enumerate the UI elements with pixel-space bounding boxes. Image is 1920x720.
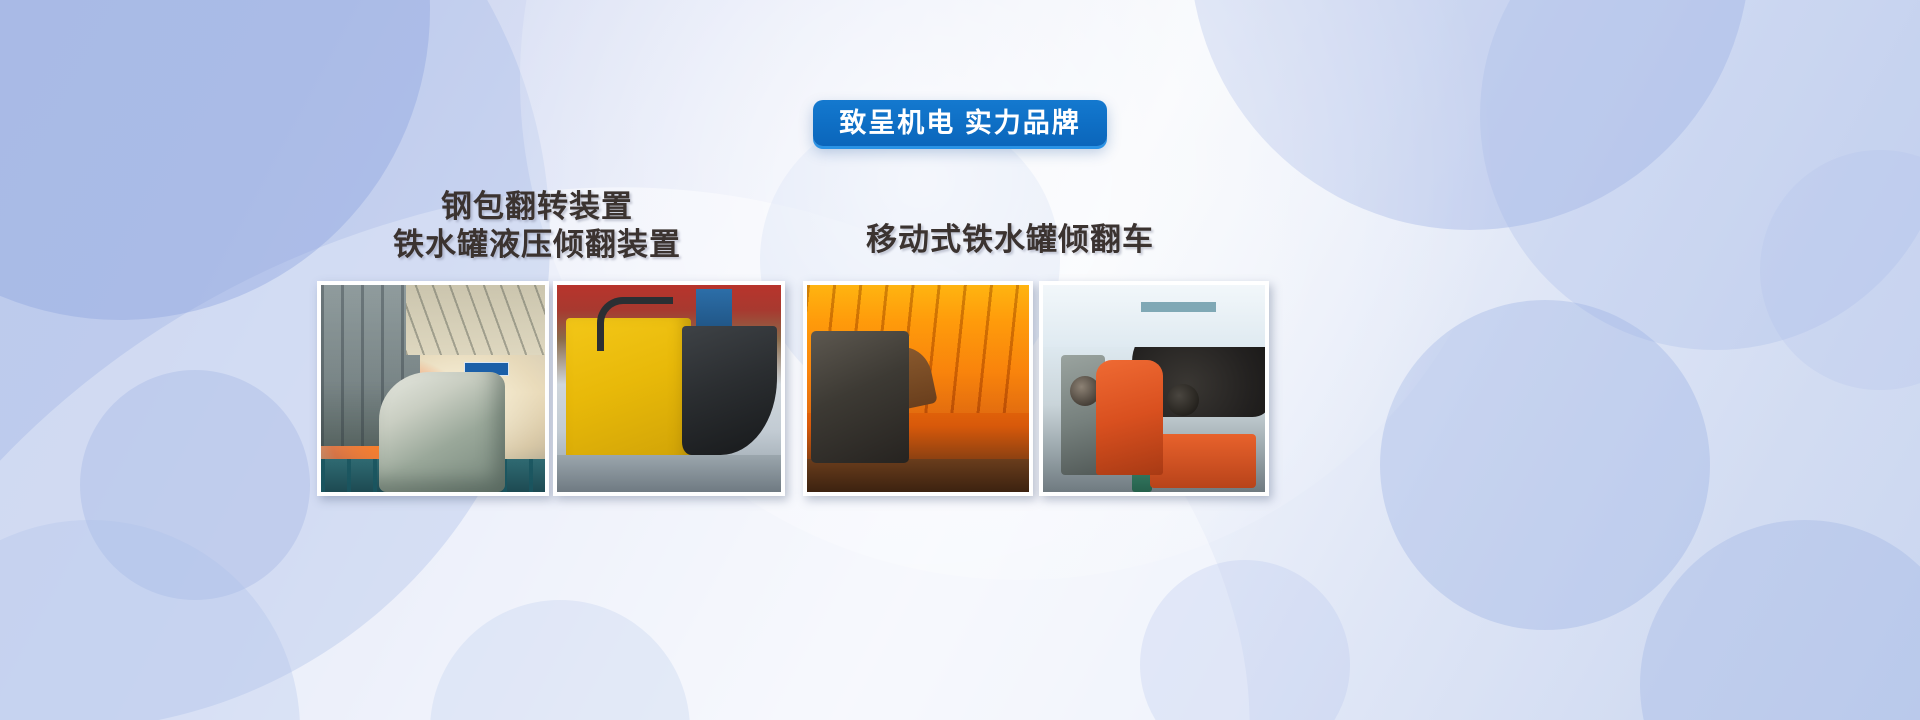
photo-image-furnace-tilt [807,285,1029,492]
photo-thumbnail-3[interactable] [803,281,1033,496]
heading-left: 钢包翻转装置 铁水罐液压倾翻装置 [393,188,681,264]
photo-image-transfer-car [1043,285,1265,492]
photo-thumbnail-1[interactable] [317,281,549,496]
photo-group-left [317,281,785,496]
badge-container: 致呈机电 实力品牌 [0,100,1920,146]
photo-image-ladle-tipper [321,285,545,492]
photo-thumbnail-2[interactable] [553,281,785,496]
heading-left-line-2: 铁水罐液压倾翻装置 [393,226,681,264]
photo-image-hydraulic-tilter [557,285,781,492]
headings-container: 钢包翻转装置 铁水罐液压倾翻装置 移动式铁水罐倾翻车 [0,188,1920,268]
promo-banner: 致呈机电 实力品牌 钢包翻转装置 铁水罐液压倾翻装置 移动式铁水罐倾翻车 [0,0,1920,720]
photo-group-right [803,281,1269,496]
photo-thumbnail-4[interactable] [1039,281,1269,496]
heading-right: 移动式铁水罐倾翻车 [866,221,1154,259]
heading-left-line-1: 钢包翻转装置 [393,188,681,226]
photo-strip [0,281,1920,496]
brand-badge[interactable]: 致呈机电 实力品牌 [813,100,1107,146]
